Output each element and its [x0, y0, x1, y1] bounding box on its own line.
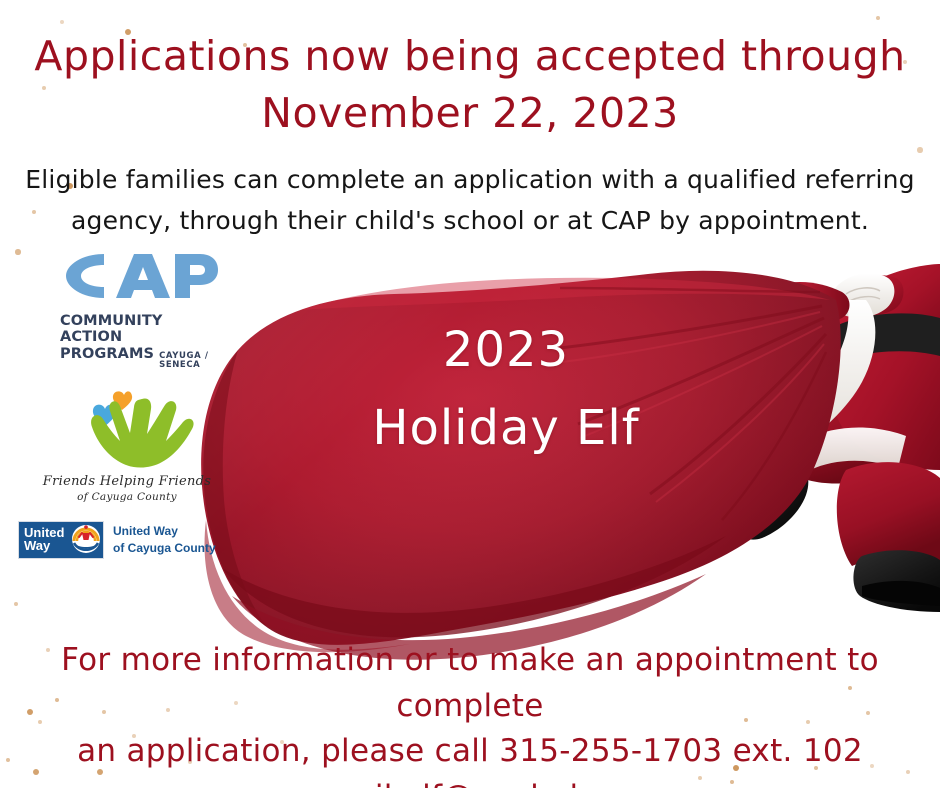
- eligibility-description: Eligible families can complete an applic…: [0, 160, 940, 241]
- uw-name-line-2: of Cayuga County: [113, 540, 216, 556]
- confetti-dot: [876, 16, 881, 21]
- bag-caption-year: 2023: [336, 312, 676, 390]
- uw-name-line-1: United Way: [113, 523, 216, 539]
- contact-line-2: an application, please call 315-255-1703…: [0, 729, 940, 775]
- united-way-symbol: [69, 522, 103, 558]
- fhf-name-line-2: of Cayuga County: [42, 490, 212, 504]
- cap-subtitle-line-1: COMMUNITY ACTION: [60, 313, 218, 346]
- bag-caption-title: Holiday Elf: [336, 390, 676, 468]
- eligibility-line-2: agency, through their child's school or …: [0, 201, 940, 242]
- headline-line-2: November 22, 2023: [0, 85, 940, 142]
- friends-helping-friends-logo: Friends Helping Friends of Cayuga County: [42, 389, 212, 505]
- united-way-rainbow-hand-icon: [69, 522, 103, 556]
- eligibility-line-1: Eligible families can complete an applic…: [0, 160, 940, 201]
- bag-caption: 2023 Holiday Elf: [336, 312, 676, 468]
- contact-line-1: For more information or to make an appoi…: [0, 638, 940, 729]
- cap-subtitle-line-2: PROGRAMS: [60, 346, 154, 362]
- friends-helping-friends-name: Friends Helping Friends of Cayuga County: [42, 473, 212, 505]
- page-title: Applications now being accepted through …: [0, 28, 940, 141]
- united-way-name: United Way of Cayuga County: [113, 523, 216, 555]
- cap-subtitle: COMMUNITY ACTION PROGRAMS CAYUGA / SENEC…: [60, 313, 218, 371]
- contact-line-3: or email elf@caphelps.org: [0, 775, 940, 788]
- contact-info: For more information or to make an appoi…: [0, 638, 940, 788]
- helping-hand-hearts-icon: [52, 389, 202, 471]
- uw-mark-line-2: Way: [24, 539, 65, 553]
- santa-figure: [735, 264, 940, 612]
- united-way-logo: United Way: [18, 521, 224, 559]
- cap-logo: COMMUNITY ACTION PROGRAMS CAYUGA / SENEC…: [60, 250, 260, 371]
- sack-neck: [753, 282, 850, 327]
- confetti-dot: [14, 602, 19, 607]
- confetti-dot: [60, 20, 64, 24]
- united-way-mark: United Way: [18, 521, 104, 559]
- cap-tagline: CAYUGA / SENECA: [159, 352, 218, 371]
- headline-line-1: Applications now being accepted through: [0, 28, 940, 85]
- uw-mark-line-1: United: [24, 526, 65, 540]
- holiday-elf-flyer: Applications now being accepted through …: [0, 0, 940, 788]
- cap-wordmark-icon: [60, 250, 218, 302]
- united-way-mark-text: United Way: [19, 522, 69, 558]
- partner-logos: COMMUNITY ACTION PROGRAMS CAYUGA / SENEC…: [14, 250, 224, 559]
- confetti-dot: [917, 147, 922, 152]
- fhf-name-line-1: Friends Helping Friends: [43, 474, 211, 489]
